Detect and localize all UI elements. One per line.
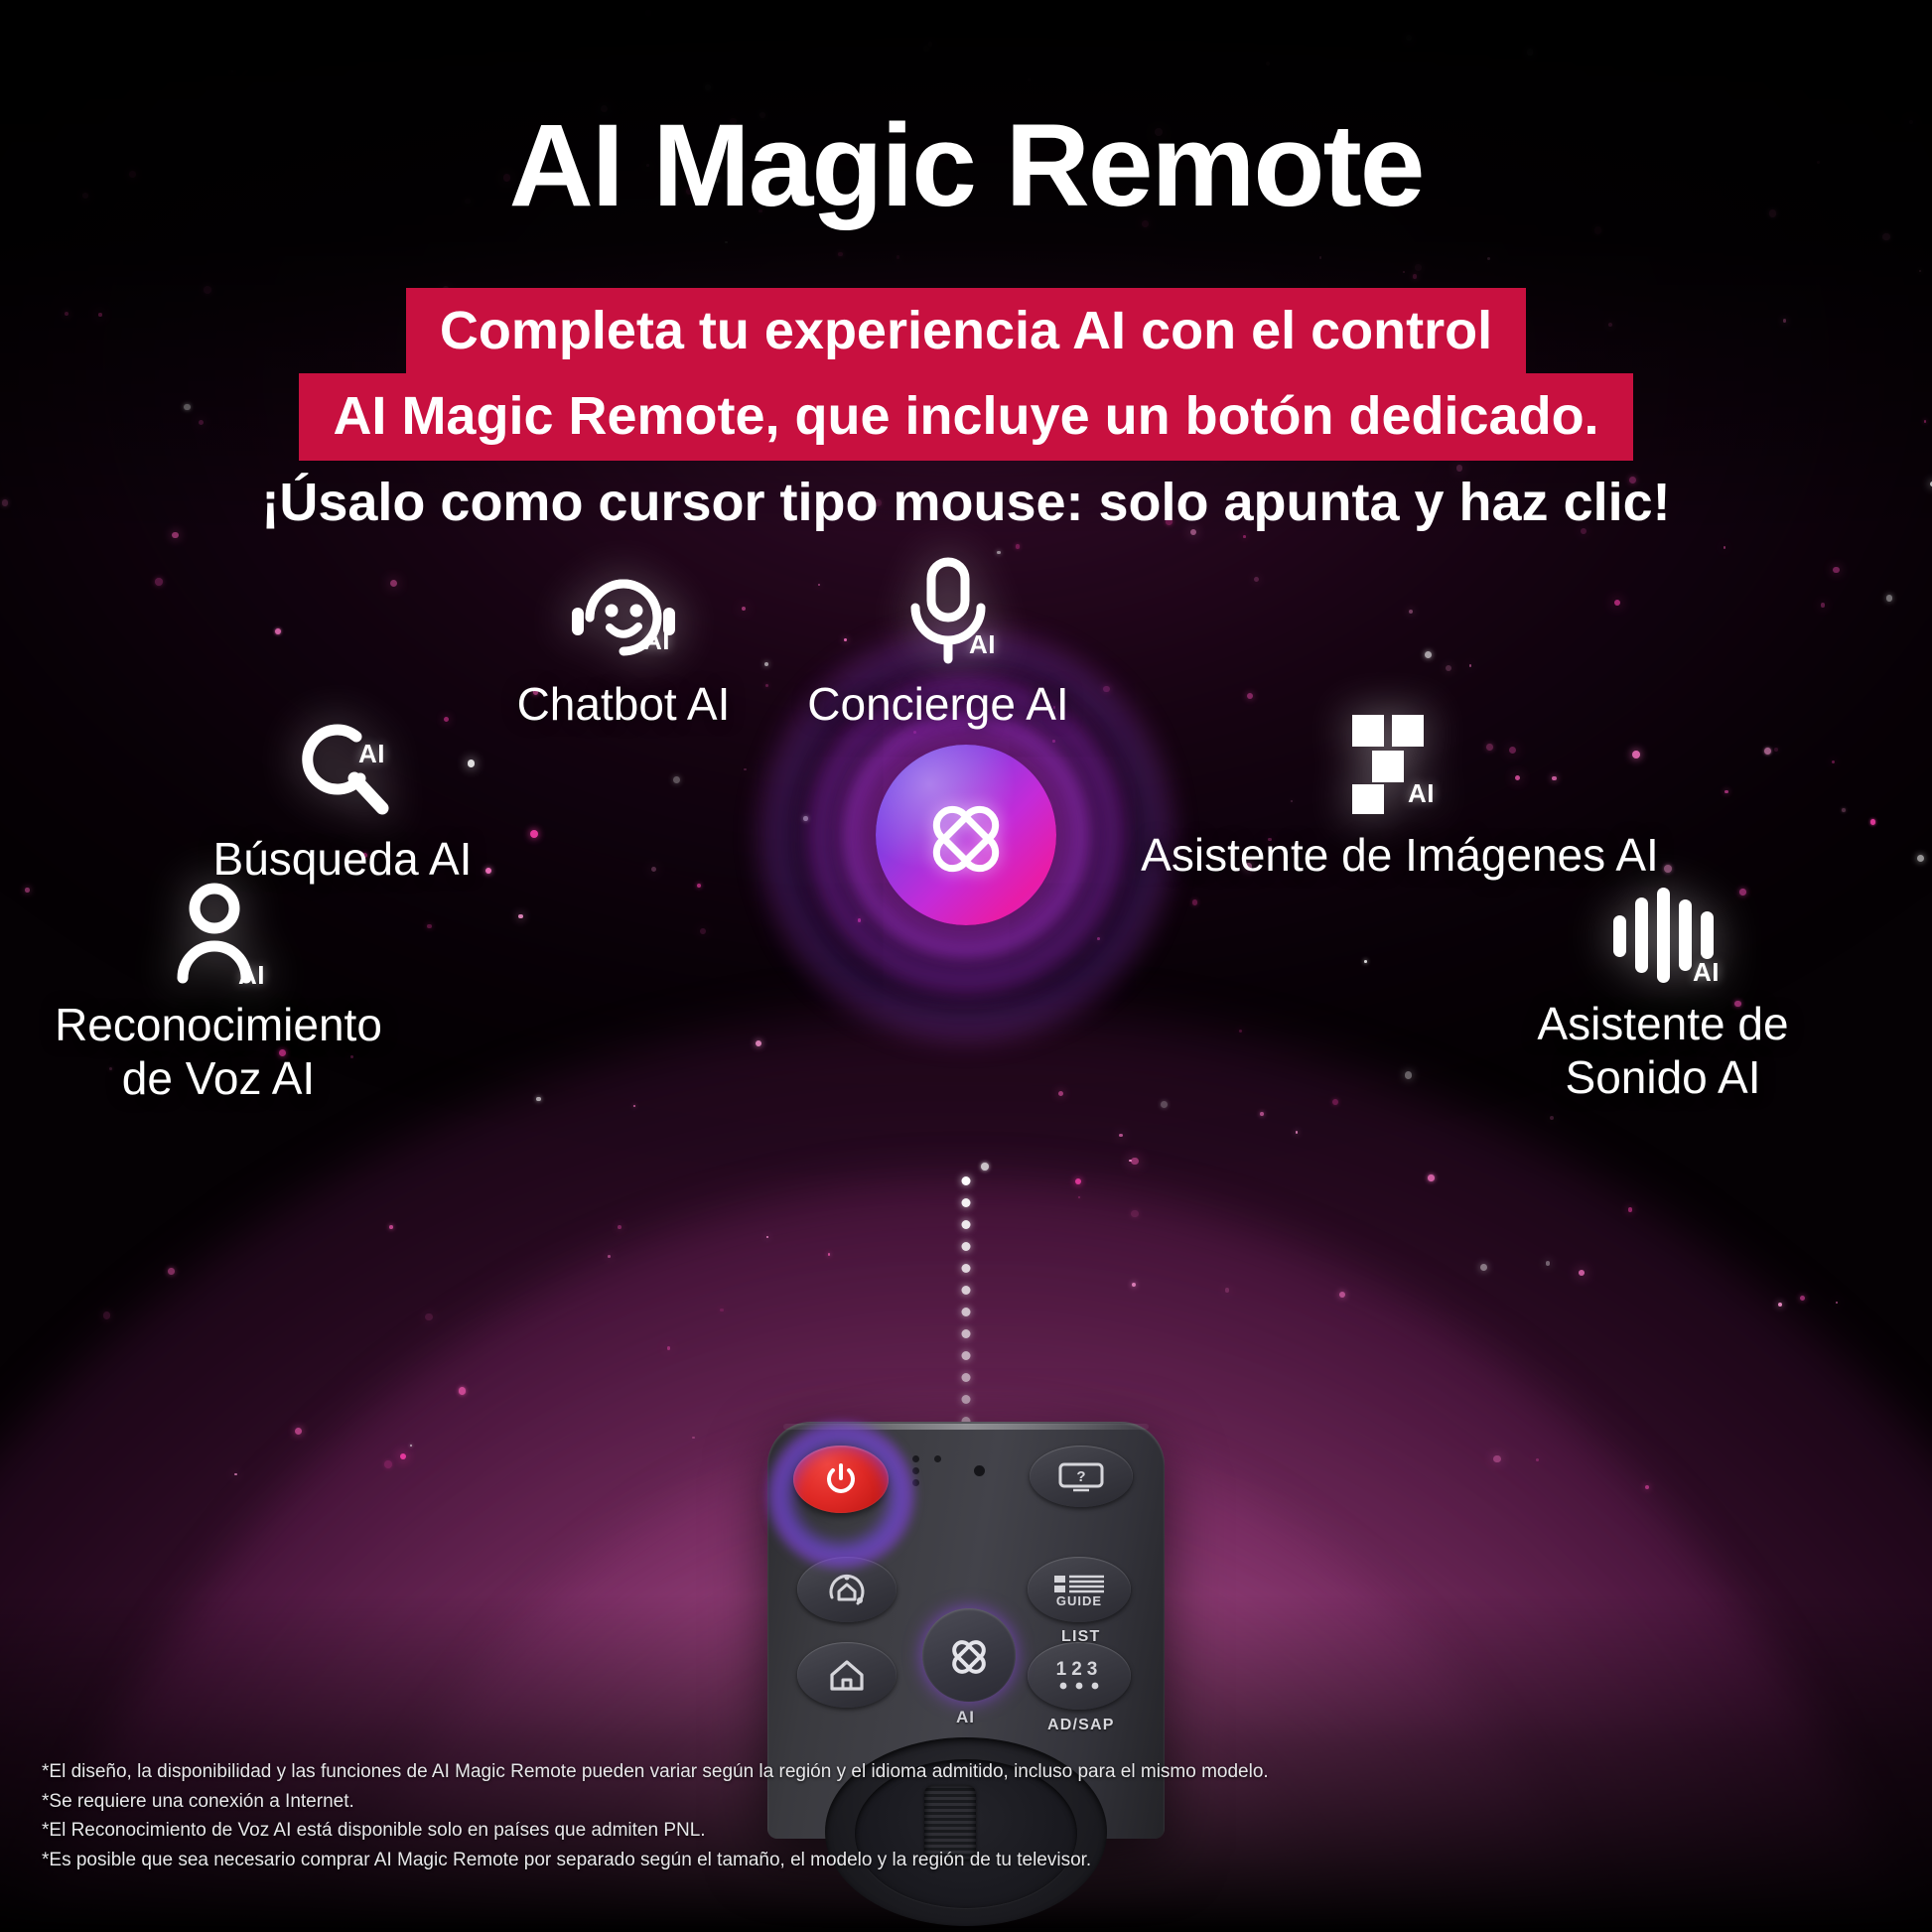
feature-search-ai: AI Búsqueda AI: [194, 713, 491, 886]
footnote-4: *Es posible que sea necesario comprar AI…: [42, 1846, 1269, 1874]
footnote-2: *Se requiere una conexión a Internet.: [42, 1787, 1269, 1816]
ai-knot-logo-icon: [943, 1629, 995, 1681]
feature-label-image: Asistente de Imágenes AI: [1122, 828, 1678, 882]
feature-label-concierge: Concierge AI: [784, 677, 1092, 731]
connector-dot: [962, 1329, 971, 1338]
connector-dot: [962, 1242, 971, 1251]
svg-text:?: ?: [1076, 1468, 1085, 1485]
home-icon: [824, 1655, 870, 1695]
guide-button[interactable]: GUIDE: [1028, 1557, 1131, 1622]
checkerboard-pixels-icon: AI: [1344, 707, 1455, 818]
microphone-icon: AI: [894, 556, 1003, 667]
ai-button-label: AI: [956, 1708, 975, 1727]
guide-label: GUIDE: [1056, 1593, 1102, 1608]
ai-orb: [876, 745, 1056, 925]
ai-tag: AI: [238, 960, 265, 991]
ai-button[interactable]: [922, 1608, 1016, 1702]
connector-dot: [962, 1220, 971, 1229]
page-title: AI Magic Remote: [0, 0, 1932, 224]
ai-tag: AI: [1408, 778, 1435, 809]
ai-knot-logo-icon: [876, 745, 1056, 925]
connector-dot: [962, 1395, 971, 1404]
feature-concierge-ai: AI Concierge AI: [784, 556, 1092, 731]
magnifier-search-icon: AI: [285, 713, 400, 824]
footnotes: *El diseño, la disponibilidad y las func…: [42, 1757, 1269, 1874]
tv-input-icon: ?: [1055, 1459, 1107, 1493]
input-button[interactable]: ?: [1030, 1446, 1133, 1507]
feature-label-sound-line1: Asistente de: [1445, 997, 1881, 1050]
feature-image-assistant-ai: AI Asistente de Imágenes AI: [1122, 707, 1678, 882]
footnote-1: *El diseño, la disponibilidad y las func…: [42, 1757, 1269, 1786]
feature-label-voice-line1: Reconocimiento: [20, 998, 417, 1051]
keypad-icon: 123: [1046, 1655, 1112, 1697]
header: AI Magic Remote Completa tu experiencia …: [0, 0, 1932, 531]
home-button[interactable]: [797, 1642, 897, 1708]
feature-label-sound-line2: Sonido AI: [1445, 1050, 1881, 1104]
ai-tag: AI: [643, 625, 670, 656]
connector-dot: [962, 1308, 971, 1316]
connector-dot: [962, 1373, 971, 1382]
banner-line-2: AI Magic Remote, que incluye un botón de…: [299, 373, 1632, 461]
numbers-button[interactable]: 123: [1028, 1642, 1131, 1710]
sound-waveform-bars-icon: AI: [1607, 884, 1719, 987]
numbers-label: 123: [1056, 1659, 1103, 1680]
connector-dot: [962, 1286, 971, 1295]
home-hub-icon: [824, 1568, 870, 1611]
list-label: LIST: [1061, 1628, 1100, 1646]
footnote-3: *El Reconocimiento de Voz AI está dispon…: [42, 1816, 1269, 1845]
connector-dot: [962, 1264, 971, 1273]
connector-dot: [962, 1198, 971, 1207]
ai-tag: AI: [969, 629, 996, 660]
guide-lines-icon: GUIDE: [1048, 1570, 1110, 1609]
orb-to-remote-connector: [962, 1176, 971, 1460]
microphone-holes-secondary: [934, 1455, 941, 1467]
chatbot-headset-smiley-icon: AI: [560, 556, 687, 667]
feature-chatbot-ai: AI Chatbot AI: [475, 556, 772, 731]
connector-dot: [962, 1351, 971, 1360]
feature-sound-assistant-ai: AI Asistente de Sonido AI: [1445, 884, 1881, 1105]
tagline: ¡Úsalo como cursor tipo mouse: solo apun…: [0, 475, 1932, 531]
feature-voice-recognition-ai: AI Reconocimiento de Voz AI: [20, 879, 417, 1106]
feature-label-chatbot: Chatbot AI: [475, 677, 772, 731]
ai-tag: AI: [358, 739, 385, 769]
adsap-label: AD/SAP: [1047, 1717, 1115, 1734]
person-user-icon: AI: [167, 879, 270, 990]
ir-sensor-hole: [974, 1465, 985, 1476]
banner-line-1: Completa tu experiencia AI con el contro…: [406, 288, 1526, 375]
feature-label-voice-line2: de Voz AI: [20, 1051, 417, 1105]
connector-dot: [962, 1176, 971, 1185]
headline-banner: Completa tu experiencia AI con el contro…: [0, 288, 1932, 461]
ai-tag: AI: [1693, 957, 1720, 988]
ai-button-glow: [767, 1422, 914, 1569]
